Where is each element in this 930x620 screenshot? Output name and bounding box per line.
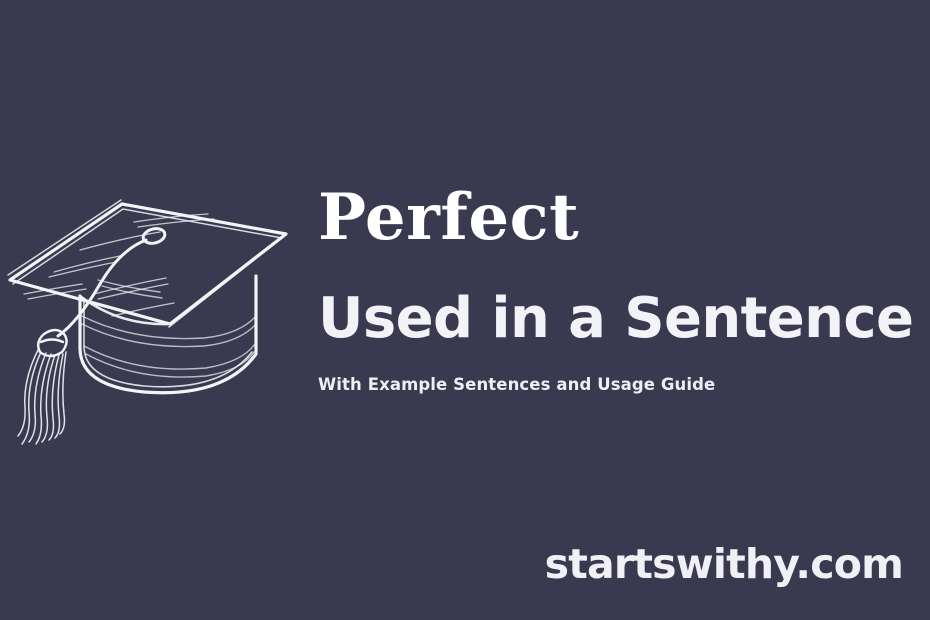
header-card: Perfect Used in a Sentence With Example … <box>0 0 930 620</box>
button-knob <box>142 227 167 246</box>
tagline: With Example Sentences and Usage Guide <box>318 375 918 394</box>
board-hatching <box>24 214 214 316</box>
brand-watermark: startswithy.com <box>545 540 903 588</box>
tassel-knot <box>38 330 66 356</box>
tassel-strands <box>18 350 66 444</box>
graduation-cap-icon <box>0 176 294 456</box>
subject-line: Used in a Sentence <box>318 290 918 349</box>
base-hatching <box>82 280 256 377</box>
headline-block: Perfect Used in a Sentence With Example … <box>318 186 918 394</box>
word-title: Perfect <box>318 186 918 250</box>
mortarboard-top <box>10 204 286 324</box>
